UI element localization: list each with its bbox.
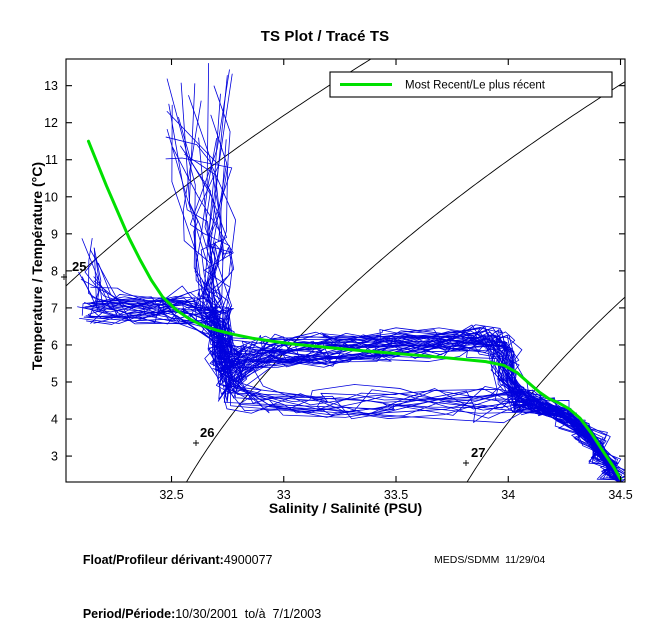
profile-trace [167,111,621,480]
x-tick-label: 34 [501,488,515,502]
profile-trace [91,302,620,478]
x-tick-label: 33.5 [384,488,408,502]
float-label: Float/Profileur dérivant: [83,553,224,567]
profile-trace [89,297,620,482]
y-tick-label: 9 [51,227,58,241]
profile-trace [173,147,620,477]
profile-bundle-layer [78,63,633,482]
y-tick-label: 7 [51,301,58,315]
density-contour-25 [0,49,388,493]
period-line: Period/Période:10/30/2001 to/à 7/1/2003 [62,587,321,641]
profile-trace [94,298,621,479]
y-tick-label: 6 [51,338,58,352]
density-contour-label-26: 26 [200,425,214,440]
profile-trace [181,146,622,482]
profile-trace [185,154,618,481]
period-value: 10/30/2001 to/à 7/1/2003 [175,607,321,621]
profile-trace [82,297,620,478]
x-tick-label: 32.5 [159,488,183,502]
density-contour-label-27: 27 [471,445,485,460]
contour-tick-27 [463,460,469,466]
profile-trace [206,115,618,478]
density-contour-27 [460,95,650,493]
profile-trace [79,272,632,477]
profile-trace [167,129,617,479]
profile-trace [221,164,622,481]
density-contour-label-25: 25 [72,259,86,274]
profile-trace [90,250,619,477]
legend-label-most-recent: Most Recent/Le plus récent [405,80,546,92]
profile-trace [169,104,619,481]
profile-trace [199,138,621,477]
profile-trace [94,281,620,481]
y-tick-label: 10 [44,190,58,204]
profile-trace [85,259,620,477]
footer-metadata: Float/Profileur dérivant:4900077 Period/… [62,533,321,641]
profile-trace [93,298,617,478]
profile-trace [88,298,628,482]
y-tick-label: 4 [51,413,58,427]
ts-plot-page: TS Plot / Tracé TS Temperature / Tempéra… [0,0,650,580]
profile-trace [86,301,619,477]
credit-text: MEDS/SDMM 11/29/04 [434,554,545,566]
profile-trace [86,301,627,478]
float-value: 4900077 [224,553,273,567]
profile-trace [83,290,619,477]
profile-trace [204,75,618,481]
profile-trace [166,137,618,482]
x-tick-label: 33 [277,488,291,502]
y-tick-label: 8 [51,264,58,278]
axes-frame [66,59,625,482]
profile-trace [189,84,620,482]
y-tick-label: 3 [51,450,58,464]
profile-trace [179,117,620,481]
y-tick-label: 11 [45,153,58,167]
y-tick-label: 12 [44,116,58,130]
contour-tick-26 [193,440,199,446]
profile-trace [166,158,617,478]
profile-trace [94,248,622,481]
profile-trace [94,248,619,480]
profile-trace [172,105,618,478]
y-tick-label: 13 [44,79,58,93]
period-label: Period/Période: [83,607,175,621]
legend[interactable]: Most Recent/Le plus récent [330,72,612,97]
x-tick-label: 34.5 [608,488,632,502]
float-line: Float/Profileur dérivant:4900077 [62,533,321,587]
ts-plot-canvas: 25262732.53333.53434.5345678910111213Mos… [0,0,650,580]
profile-trace [84,305,619,482]
profile-trace [183,101,617,479]
profile-trace [96,257,621,479]
profile-trace [181,83,617,480]
profile-trace [98,263,618,477]
y-tick-label: 5 [51,375,58,389]
profile-trace [211,140,622,483]
